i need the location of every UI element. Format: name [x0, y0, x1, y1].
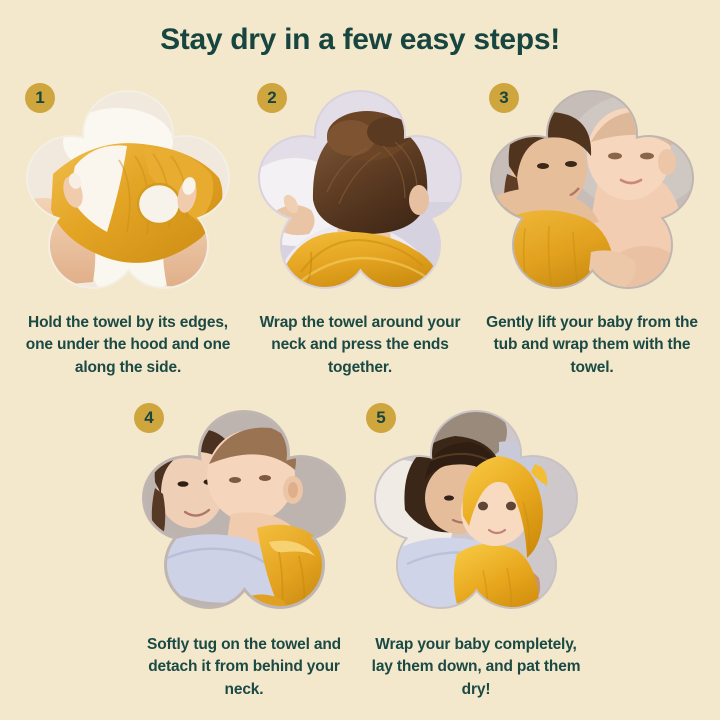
- step-caption-3: Gently lift your baby from the tub and w…: [480, 312, 704, 379]
- step-card-5: 5: [360, 400, 592, 701]
- step-number-badge-4: 4: [134, 403, 164, 433]
- photo-mother-lifting-baby: [487, 82, 697, 298]
- step-number-badge-5: 5: [366, 403, 396, 433]
- step-number-badge-1: 1: [25, 83, 55, 113]
- step-image-4: [139, 402, 349, 618]
- steps-row-top: 1: [0, 80, 720, 379]
- step-image-2: [255, 82, 465, 298]
- step-card-1: 1: [12, 80, 244, 379]
- step-card-3: 3: [476, 80, 708, 379]
- step-caption-1: Hold the towel by its edges, one under t…: [16, 312, 240, 379]
- step-image-1: [23, 82, 233, 298]
- steps-row-bottom: 4: [0, 400, 720, 701]
- step-caption-5: Wrap your baby completely, lay them down…: [364, 634, 588, 701]
- step-caption-2: Wrap the towel around your neck and pres…: [248, 312, 472, 379]
- photo-towel-around-neck: [255, 82, 465, 298]
- photo-hands-holding-towel: [23, 82, 233, 298]
- page-title: Stay dry in a few easy steps!: [0, 23, 720, 56]
- step-number-badge-2: 2: [257, 83, 287, 113]
- step-image-5: [371, 402, 581, 618]
- step-card-2: 2: [244, 80, 476, 379]
- infographic-page: Stay dry in a few easy steps! 1: [0, 0, 720, 720]
- step-number-badge-3: 3: [489, 83, 519, 113]
- step-card-4: 4: [128, 400, 360, 701]
- step-image-3: [487, 82, 697, 298]
- photo-baby-wrapped-in-hooded-towel: [371, 402, 581, 618]
- photo-tug-towel-behind-neck: [139, 402, 349, 618]
- step-caption-4: Softly tug on the towel and detach it fr…: [132, 634, 356, 701]
